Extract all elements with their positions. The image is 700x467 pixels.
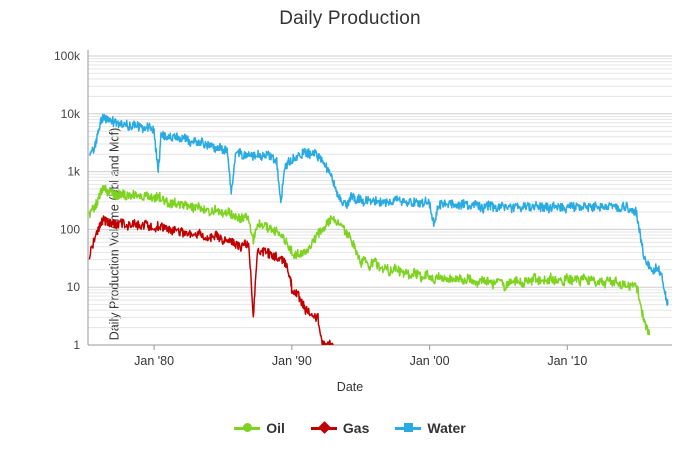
svg-text:10k: 10k — [61, 107, 81, 121]
svg-text:Jan '80: Jan '80 — [134, 354, 174, 368]
legend-label-oil: Oil — [266, 420, 285, 436]
svg-text:100: 100 — [60, 222, 80, 236]
svg-text:Jan '90: Jan '90 — [272, 354, 312, 368]
diamond-marker-icon — [318, 421, 331, 434]
chart-container: Daily Production Daily Production Volume… — [0, 0, 700, 467]
circle-marker-icon — [243, 423, 252, 432]
plot-area: 1101001k10k100kJan '80Jan '90Jan '00Jan … — [0, 0, 700, 467]
legend-label-gas: Gas — [343, 420, 369, 436]
legend-item-water[interactable]: Water — [395, 420, 465, 436]
svg-text:10: 10 — [67, 280, 81, 294]
svg-text:1k: 1k — [67, 165, 81, 179]
legend-item-gas[interactable]: Gas — [311, 420, 369, 436]
legend-item-oil[interactable]: Oil — [234, 420, 285, 436]
legend-swatch-oil — [234, 427, 260, 430]
x-axis-label: Date — [0, 380, 700, 394]
chart-legend: Oil Gas Water — [0, 420, 700, 436]
svg-text:Jan '10: Jan '10 — [547, 354, 587, 368]
svg-text:Jan '00: Jan '00 — [410, 354, 450, 368]
legend-label-water: Water — [427, 420, 465, 436]
svg-text:100k: 100k — [54, 49, 81, 63]
legend-swatch-water — [395, 427, 421, 430]
legend-swatch-gas — [311, 427, 337, 430]
square-marker-icon — [404, 423, 413, 432]
svg-text:1: 1 — [73, 338, 80, 352]
